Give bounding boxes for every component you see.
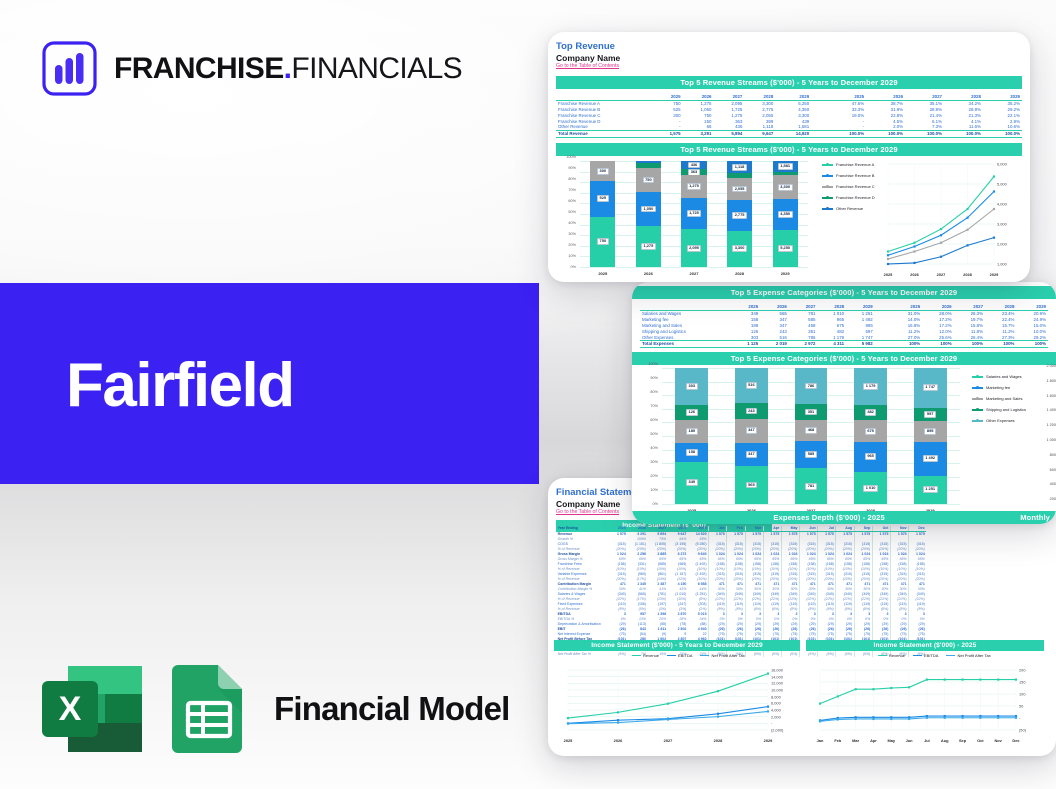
expense-categories-card[interactable]: Top 5 Expense Categories ($'000) - 5 Yea…	[632, 282, 1056, 524]
row-monthly-value: (6%)	[818, 652, 836, 657]
legend-marker-ebitda-monthly	[913, 655, 922, 657]
revenue-table-band: Top 5 Revenue Streams ($'000) - 5 Years …	[556, 76, 1022, 89]
y-tick: 90%	[568, 166, 576, 170]
y-tick: (2,000)	[771, 728, 783, 733]
legend-label: Franchise Revenue C	[836, 184, 875, 189]
stacked-bar: 303126189158349	[675, 368, 708, 504]
legend-item: Franchise Revenue A	[822, 162, 876, 167]
total-percent: 100%	[954, 340, 985, 347]
bar-segment: 1 179	[854, 368, 887, 405]
bar-value-label: 436	[688, 162, 700, 169]
legend-label: Marketing fee	[986, 385, 1010, 390]
legend-marker-ebitda	[667, 655, 676, 657]
bar-segment: 786	[795, 368, 828, 404]
legend-label-revenue: Revenue	[643, 653, 659, 658]
y-tick: 16,000	[771, 668, 783, 673]
y-axis: 0%10%20%30%40%50%60%70%80%90%100%	[554, 157, 578, 267]
bar-segment: 3,300	[773, 175, 798, 198]
row-monthly-value: (6%)	[781, 652, 799, 657]
bar-value-label: 750	[597, 238, 609, 245]
income-chart-band-left: Income Statement ($'000) - 5 Years to De…	[554, 640, 800, 651]
x-tick: 2028	[714, 738, 723, 743]
expense-chart-legend: Salaries and Wages Marketing fee Marketi…	[972, 374, 1032, 429]
x-tick: 2026	[910, 272, 919, 277]
y-tick: 2,000	[771, 714, 781, 719]
x-tick: Apr	[870, 738, 877, 743]
bar-value-label: 2,095	[687, 245, 702, 252]
income-statement-table: Year Ending20252026202720282029JanFebMar…	[556, 526, 926, 657]
revenue-toc-link[interactable]: Go to the Table of Contents	[556, 63, 1030, 70]
bar-group: 3005257507501,0501,2754363631,2751,7252,…	[580, 161, 808, 267]
total-percent: 100.0%	[866, 130, 905, 137]
bar-segment: 1,050	[636, 192, 661, 226]
y-tick: 6,000	[997, 162, 1007, 167]
expense-table: 2025202620272028202920252026202720282029…	[640, 304, 1048, 348]
revenue-table: 2025202620272028202920252026202720282029…	[556, 94, 1022, 138]
x-axis: 20252026202720282029	[580, 268, 808, 279]
y-tick: 200	[1050, 497, 1056, 501]
y-tick: 14,000	[771, 674, 783, 679]
bar-value-label: 1 010	[863, 485, 878, 492]
bar-value-label: 3,300	[778, 184, 793, 191]
stacked-bar: 4363631,2751,7252,095	[681, 161, 706, 267]
y-tick: 10%	[650, 488, 658, 492]
bar-value-label: 349	[686, 479, 698, 486]
bar-value-label: 597	[924, 411, 936, 418]
format-label: Financial Model	[274, 690, 510, 728]
bar-value-label: 300	[597, 168, 609, 175]
stacked-bar: 1,5813,3004,3505,250	[773, 161, 798, 267]
google-sheets-icon	[170, 663, 248, 755]
y-tick: 40%	[568, 221, 576, 225]
bar-value-label: 482	[865, 409, 877, 416]
total-value: 9,647	[744, 130, 775, 137]
bar-segment: 1 010	[854, 472, 887, 504]
y-tick: -	[1019, 716, 1020, 721]
legend-marker	[822, 163, 833, 167]
legend-item: Franchise Revenue C	[822, 184, 876, 189]
total-percent: 100%	[922, 340, 953, 347]
expenses-depth-label: Expenses Depth ($'000) - 2025	[638, 513, 1020, 522]
legend-label-ebitda: EBITDA	[678, 653, 692, 658]
bar-value-label: 1,118	[732, 164, 747, 171]
y-tick: 10,000	[771, 688, 783, 693]
bar-value-label: 585	[805, 451, 817, 458]
bar-segment: 436	[681, 161, 706, 169]
bar-chart-logo-icon	[40, 40, 98, 98]
y-tick: 80%	[568, 177, 576, 181]
x-tick: 2029	[764, 738, 773, 743]
svg-text:X: X	[59, 690, 82, 728]
revenue-chart-legend: Franchise Revenue A Franchise Revenue B …	[822, 162, 876, 217]
bar-value-label: 786	[805, 383, 817, 390]
total-value: 1,575	[652, 130, 683, 137]
bar-value-label: 565	[746, 482, 758, 489]
legend-marker	[822, 196, 833, 200]
y-tick: 3,000	[997, 222, 1007, 227]
legend-marker-revenue	[632, 655, 641, 657]
plot-area: 3005257507501,0501,2754363631,2751,7252,…	[580, 161, 808, 267]
bar-value-label: 1,050	[641, 206, 656, 213]
y-tick: (50)	[1019, 728, 1026, 733]
legend-marker-revenue-monthly	[878, 655, 887, 657]
bar-segment: 1 747	[914, 368, 947, 408]
bar-value-label: 351	[805, 409, 817, 416]
y-tick: 50%	[568, 210, 576, 214]
y-tick: 600	[1050, 468, 1056, 472]
expense-table-band: Top 5 Expense Categories ($'000) - 5 Yea…	[632, 286, 1056, 299]
bar-segment: 126	[675, 405, 708, 420]
x-tick: 2027	[937, 272, 946, 277]
y-tick: 100%	[648, 362, 658, 366]
legend-marker	[822, 174, 833, 178]
x-tick: 2025	[884, 272, 893, 277]
row-monthly-value: (6%)	[745, 652, 763, 657]
bar-group: 3031261891583495162433473475657863514685…	[662, 368, 960, 504]
income-chart-legend-right: Revenue EBITDA Net Profit After Tax	[878, 653, 991, 658]
y-tick: 70%	[650, 404, 658, 408]
bar-segment: 482	[854, 405, 887, 420]
y-tick: 20%	[568, 243, 576, 247]
y-tick: 4,000	[997, 202, 1007, 207]
x-tick: 2028	[963, 272, 972, 277]
row-monthly-value: (6%)	[854, 652, 872, 657]
bar-value-label: 1,581	[778, 163, 793, 170]
bar-segment: 3,300	[727, 231, 752, 267]
bar-value-label: 347	[746, 451, 758, 458]
bar-value-label: 3,300	[732, 245, 747, 252]
bar-segment: 349	[675, 462, 708, 504]
y-tick: 60%	[650, 418, 658, 422]
expense-chart-band: Top 5 Expense Categories ($'000) - 5 Yea…	[632, 352, 1056, 365]
bar-segment: 2,095	[681, 229, 706, 267]
y-tick: 70%	[568, 188, 576, 192]
y-tick: 150	[1019, 680, 1026, 685]
y-tick: 20%	[650, 474, 658, 478]
bar-segment: 675	[854, 420, 887, 441]
legend-label: Salaries and Wages	[986, 374, 1022, 379]
x-tick: 2027	[664, 738, 673, 743]
y-tick: 2 000	[1046, 364, 1056, 368]
row-value: (6%)	[607, 652, 627, 657]
bar-segment: 347	[735, 419, 768, 442]
legend-marker	[972, 386, 983, 390]
expense-stacked-bar-chart: 0%10%20%30%40%50%60%70%80%90%100%3031261…	[636, 364, 968, 516]
legend-marker-npat-monthly	[946, 655, 955, 657]
y-tick: 40%	[650, 446, 658, 450]
expenses-depth-monthly-label: Monthly	[1020, 513, 1050, 522]
legend-label: Other Expenses	[986, 418, 1015, 423]
x-tick: Oct	[977, 738, 984, 743]
x-tick: 2027	[681, 271, 706, 276]
revenue-sheet: Top Revenue Company Name Go to the Table…	[548, 32, 1030, 282]
y-tick: 50	[1019, 704, 1023, 709]
bar-value-label: 525	[597, 195, 609, 202]
stacked-bar: 1 1794826759651 010	[854, 368, 887, 504]
legend-marker	[822, 207, 833, 211]
bar-value-label: 1 492	[923, 455, 938, 462]
bar-value-label: 895	[924, 428, 936, 435]
table-total-row: Total Revenue1,5753,2915,8949,64714,9201…	[556, 130, 1022, 137]
y-tick: 50%	[650, 432, 658, 436]
legend-label-npat-monthly: Net Profit After Tax	[957, 653, 990, 658]
y-tick: 1 400	[1046, 408, 1056, 412]
y-tick: 30%	[568, 232, 576, 236]
legend-item: Shipping and Logistics	[972, 407, 1032, 412]
bar-segment: 750	[590, 217, 615, 267]
row-monthly-value: (6%)	[836, 652, 854, 657]
stacked-bar: 1,1182,0552,7753,300	[727, 161, 752, 267]
bar-segment: 300	[590, 161, 615, 181]
total-label: Total Revenue	[556, 130, 652, 137]
legend-item: Franchise Revenue D	[822, 195, 876, 200]
format-row: X Financial Model	[40, 663, 510, 755]
row-monthly-value: (6%)	[800, 652, 818, 657]
y-tick: 1 800	[1046, 379, 1056, 383]
expense-sheet: Top 5 Expense Categories ($'000) - 5 Yea…	[632, 282, 1056, 524]
bar-value-label: 1 179	[863, 383, 878, 390]
x-tick: Jul	[924, 738, 930, 743]
y-tick: 100%	[566, 155, 576, 159]
x-tick: May	[887, 738, 895, 743]
legend-item: Salaries and Wages	[972, 374, 1032, 379]
y-tick: 90%	[650, 376, 658, 380]
y-tick: 6,000	[771, 701, 781, 706]
x-tick: 2029	[773, 271, 798, 276]
y-tick: 12,000	[771, 681, 783, 686]
bar-segment: 351	[795, 404, 828, 420]
y-tick: 0%	[571, 265, 577, 269]
legend-item: Franchise Revenue B	[822, 173, 876, 178]
stacked-bar: 300525750	[590, 161, 615, 267]
bar-segment: 2,055	[727, 178, 752, 201]
bar-segment: 895	[914, 421, 947, 441]
revenue-subtitle: Company Name	[556, 53, 1030, 63]
legend-marker	[972, 419, 983, 423]
legend-label: Other Revenue	[836, 206, 863, 211]
bar-segment: 1 492	[914, 442, 947, 476]
total-percent: 100.0%	[983, 130, 1022, 137]
y-tick: 80%	[650, 390, 658, 394]
bar-value-label: 1,275	[687, 183, 702, 190]
stacked-bar: 516243347347565	[735, 368, 768, 504]
income-chart-band-right: Income Statement ($'000) - 2025	[806, 640, 1044, 651]
legend-marker	[972, 397, 983, 401]
legend-item: Other Expenses	[972, 418, 1032, 423]
bar-segment: 158	[675, 443, 708, 462]
bar-segment: 597	[914, 408, 947, 422]
x-tick: Mar	[852, 738, 859, 743]
legend-label: Franchise Revenue D	[836, 195, 875, 200]
bar-value-label: 189	[686, 428, 698, 435]
stacked-bar: 7501,0501,275	[636, 161, 661, 267]
x-tick: Aug	[941, 738, 949, 743]
bar-segment: 965	[854, 442, 887, 472]
y-tick: 1 600	[1046, 394, 1056, 398]
y-tick: 1,000	[997, 262, 1007, 267]
y-tick: 60%	[568, 199, 576, 203]
income-statement-monthly-chart: (50)-50100150200JanFebMarAprMayJunJulAug…	[814, 664, 1042, 742]
bar-value-label: 781	[805, 483, 817, 490]
total-percent: 100.0%	[905, 130, 944, 137]
stacked-bar: 1 7475978951 4921 251	[914, 368, 947, 504]
bar-segment: 4,350	[773, 199, 798, 230]
legend-marker	[972, 375, 983, 379]
bar-segment: 585	[795, 441, 828, 468]
bar-segment: 5,250	[773, 230, 798, 267]
page-title: Fairfield	[66, 355, 294, 417]
bar-segment: 781	[795, 468, 828, 504]
total-value: 2 019	[760, 340, 789, 347]
x-tick: Feb	[834, 738, 841, 743]
total-value: 5,894	[714, 130, 745, 137]
top-revenue-card[interactable]: Top Revenue Company Name Go to the Table…	[548, 32, 1030, 282]
y-tick: 200	[1019, 668, 1026, 673]
y-tick: 30%	[650, 460, 658, 464]
revenue-chart-band: Top 5 Revenue Streams ($'000) - 5 Years …	[556, 143, 1022, 156]
bar-segment: 468	[795, 420, 828, 441]
microsoft-excel-icon: X	[40, 664, 144, 754]
x-tick: Dec	[1012, 738, 1019, 743]
bar-segment: 525	[590, 181, 615, 216]
legend-item: Other Revenue	[822, 206, 876, 211]
bar-segment: 750	[636, 168, 661, 192]
income-chart-legend-left: Revenue EBITDA Net Profit After Tax	[632, 653, 745, 658]
total-value: 1 125	[732, 340, 761, 347]
bar-segment: 1 251	[914, 476, 947, 504]
x-tick: 2029	[990, 272, 999, 277]
brand-name-bold: FRANCHISE	[114, 52, 284, 85]
legend-label: Franchise Revenue A	[836, 162, 874, 167]
bar-value-label: 126	[686, 409, 698, 416]
bar-segment: 565	[735, 466, 768, 504]
y-tick: 0%	[653, 502, 659, 506]
bar-segment: 516	[735, 368, 768, 403]
bar-segment: 1,275	[636, 226, 661, 267]
total-percent: 100.0%	[944, 130, 983, 137]
y-tick: 10%	[568, 254, 576, 258]
bar-segment: 1,581	[773, 161, 798, 172]
legend-marker-npat	[700, 655, 709, 657]
x-tick: Jun	[906, 738, 913, 743]
total-percent: 100%	[985, 340, 1016, 347]
x-tick: Jan	[817, 738, 824, 743]
revenue-title: Top Revenue	[556, 42, 1030, 53]
total-percent: 100.0%	[827, 130, 866, 137]
x-tick: Nov	[994, 738, 1001, 743]
row-monthly-value: (6%)	[763, 652, 781, 657]
legend-label: Marketing and Sales	[986, 396, 1022, 401]
y-tick: 100	[1019, 692, 1026, 697]
bar-value-label: 675	[865, 428, 877, 435]
total-value: 2 972	[789, 340, 818, 347]
y-tick: 400	[1050, 482, 1056, 486]
legend-label: Franchise Revenue B	[836, 173, 874, 178]
bar-segment: 1,725	[681, 198, 706, 229]
bar-value-label: 5,250	[778, 245, 793, 252]
expense-secondary-axis: -2004006008001 0001 2001 4001 6001 8002 …	[1034, 366, 1056, 514]
total-value: 4 311	[817, 340, 846, 347]
legend-label-npat: Net Profit After Tax	[711, 653, 744, 658]
brand-name-thin: FINANCIALS	[291, 52, 462, 85]
total-value: 5 982	[846, 340, 875, 347]
legend-label-revenue-monthly: Revenue	[889, 653, 905, 658]
total-label: Total Expenses	[640, 340, 732, 347]
y-tick: 1 000	[1046, 438, 1056, 442]
total-percent: 100%	[1016, 340, 1048, 347]
table-total-row: Total Expenses1 1252 0192 9724 3115 9821…	[640, 340, 1048, 347]
bar-segment: 347	[735, 443, 768, 466]
bar-segment: 2,775	[727, 200, 752, 230]
bar-value-label: 158	[686, 449, 698, 456]
bar-value-label: 516	[746, 382, 758, 389]
expenses-depth-band: Expenses Depth ($'000) - 2025 Monthly	[632, 511, 1056, 524]
brand-name: FRANCHISE.FINANCIALS	[114, 52, 462, 86]
row-label: Net Profit After Tax %	[556, 652, 607, 657]
bar-value-label: 347	[746, 427, 758, 434]
x-tick: 2026	[614, 738, 623, 743]
bar-value-label: 243	[746, 408, 758, 415]
x-tick: 2028	[727, 271, 752, 276]
y-tick: 4,000	[771, 708, 781, 713]
total-value: 14,920	[775, 130, 811, 137]
y-tick: 2,000	[997, 242, 1007, 247]
legend-marker	[822, 185, 833, 189]
legend-marker	[972, 408, 983, 412]
x-tick: 2025	[564, 738, 573, 743]
bar-segment: 1,118	[727, 161, 752, 173]
y-tick: 800	[1050, 453, 1056, 457]
bar-value-label: 303	[686, 383, 698, 390]
total-value: 3,291	[683, 130, 714, 137]
bar-value-label: 468	[805, 427, 817, 434]
income-statement-annual-chart: (2,000)-2,0004,0006,0008,00010,00012,000…	[562, 664, 794, 742]
legend-item: Marketing and Sales	[972, 396, 1032, 401]
x-tick: 2025	[590, 271, 615, 276]
y-axis: 0%10%20%30%40%50%60%70%80%90%100%	[636, 364, 660, 504]
x-tick: Sep	[959, 738, 966, 743]
bar-value-label: 1,275	[641, 243, 656, 250]
bar-value-label: 4,350	[778, 211, 793, 218]
revenue-stacked-bar-chart: 0%10%20%30%40%50%60%70%80%90%100%3005257…	[554, 157, 816, 279]
legend-label: Shipping and Logistics	[986, 407, 1026, 412]
y-tick: 5,000	[997, 182, 1007, 187]
bar-value-label: 750	[643, 177, 655, 184]
stacked-bar: 786351468585781	[795, 368, 828, 504]
bar-segment: 189	[675, 420, 708, 443]
bar-value-label: 2,775	[732, 212, 747, 219]
bar-segment: 1,275	[681, 175, 706, 198]
brand-logo: FRANCHISE.FINANCIALS	[40, 40, 462, 98]
bar-value-label: 965	[865, 453, 877, 460]
revenue-trend-line-chart: 1,0002,0003,0004,0005,0006,0002025202620…	[878, 158, 1024, 276]
total-percent: 100%	[891, 340, 922, 347]
bar-segment: 303	[675, 368, 708, 405]
y-tick: 1 200	[1046, 423, 1056, 427]
bar-segment: 243	[735, 403, 768, 419]
legend-label-ebitda-monthly: EBITDA	[924, 653, 938, 658]
legend-item: Marketing fee	[972, 385, 1032, 390]
y-tick: 8,000	[771, 694, 781, 699]
bar-value-label: 1 747	[923, 384, 938, 391]
bar-value-label: 1,725	[687, 210, 702, 217]
bar-value-label: 1 251	[923, 486, 938, 493]
x-tick: 2026	[636, 271, 661, 276]
plot-area: 3031261891583495162433473475657863514685…	[662, 368, 960, 504]
bar-value-label: 2,055	[732, 186, 747, 193]
y-tick: -	[771, 721, 772, 726]
